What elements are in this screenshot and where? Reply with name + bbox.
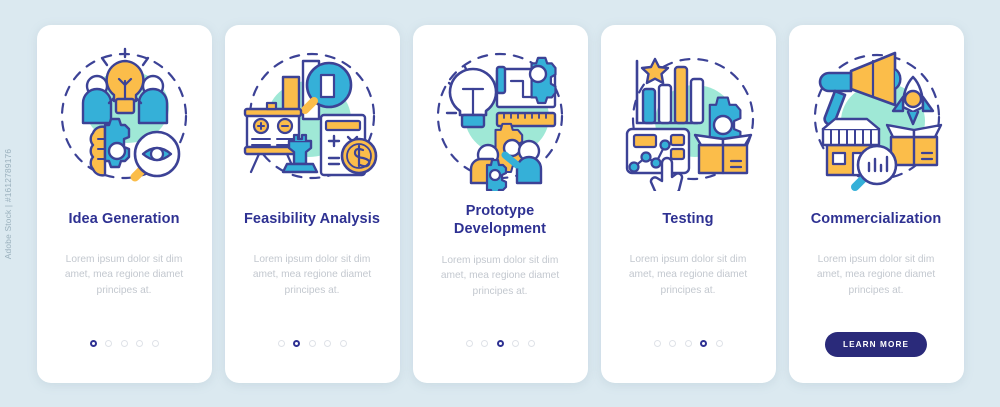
pagination-dot[interactable]: [528, 340, 535, 347]
pagination-dot-active[interactable]: [293, 340, 300, 347]
onboarding-card-idea-generation[interactable]: Idea GenerationLorem ipsum dolor sit dim…: [37, 25, 212, 383]
card-title: Idea Generation: [60, 202, 187, 238]
card-description: Lorem ipsum dolor sit dim amet, mea regi…: [805, 252, 948, 299]
card-description: Lorem ipsum dolor sit dim amet, mea regi…: [53, 252, 196, 299]
onboarding-screens-row: Idea GenerationLorem ipsum dolor sit dim…: [0, 0, 1000, 407]
learn-more-button[interactable]: LEARN MORE: [825, 332, 927, 357]
card-description: Lorem ipsum dolor sit dim amet, mea regi…: [617, 252, 760, 299]
feasibility-analysis-illustration: [235, 39, 390, 194]
onboarding-card-commercialization[interactable]: CommercializationLorem ipsum dolor sit d…: [789, 25, 964, 383]
pagination-dot[interactable]: [309, 340, 316, 347]
pagination-dot[interactable]: [685, 340, 692, 347]
card-description: Lorem ipsum dolor sit dim amet, mea regi…: [241, 252, 384, 299]
pagination-dot-active[interactable]: [700, 340, 707, 347]
watermark-text: Adobe Stock | #1612789176: [3, 148, 13, 259]
pagination-dots: [37, 340, 212, 347]
pagination-dots: [413, 340, 588, 347]
pagination-dot[interactable]: [121, 340, 128, 347]
testing-illustration: [611, 39, 766, 194]
pagination-dot-active[interactable]: [90, 340, 97, 347]
pagination-dot[interactable]: [512, 340, 519, 347]
pagination-dot[interactable]: [716, 340, 723, 347]
pagination-dot[interactable]: [654, 340, 661, 347]
card-title: Commercialization: [803, 202, 950, 238]
card-title: Feasibility Analysis: [236, 202, 388, 238]
pagination-dot[interactable]: [136, 340, 143, 347]
pagination-dot[interactable]: [324, 340, 331, 347]
pagination-dot[interactable]: [105, 340, 112, 347]
onboarding-card-testing[interactable]: TestingLorem ipsum dolor sit dim amet, m…: [601, 25, 776, 383]
card-title: Prototype Development: [413, 202, 588, 239]
pagination-dots: [601, 340, 776, 347]
pagination-dot[interactable]: [340, 340, 347, 347]
pagination-dot[interactable]: [481, 340, 488, 347]
prototype-development-illustration: [423, 39, 578, 194]
card-title: Testing: [654, 202, 721, 238]
pagination-dot[interactable]: [152, 340, 159, 347]
idea-generation-illustration: [47, 39, 202, 194]
pagination-dots: [225, 340, 400, 347]
pagination-dot-active[interactable]: [497, 340, 504, 347]
card-description: Lorem ipsum dolor sit dim amet, mea regi…: [429, 253, 572, 300]
onboarding-card-feasibility-analysis[interactable]: Feasibility AnalysisLorem ipsum dolor si…: [225, 25, 400, 383]
onboarding-card-prototype-development[interactable]: Prototype DevelopmentLorem ipsum dolor s…: [413, 25, 588, 383]
commercialization-illustration: [799, 39, 954, 194]
pagination-dot[interactable]: [466, 340, 473, 347]
pagination-dot[interactable]: [278, 340, 285, 347]
pagination-dot[interactable]: [669, 340, 676, 347]
